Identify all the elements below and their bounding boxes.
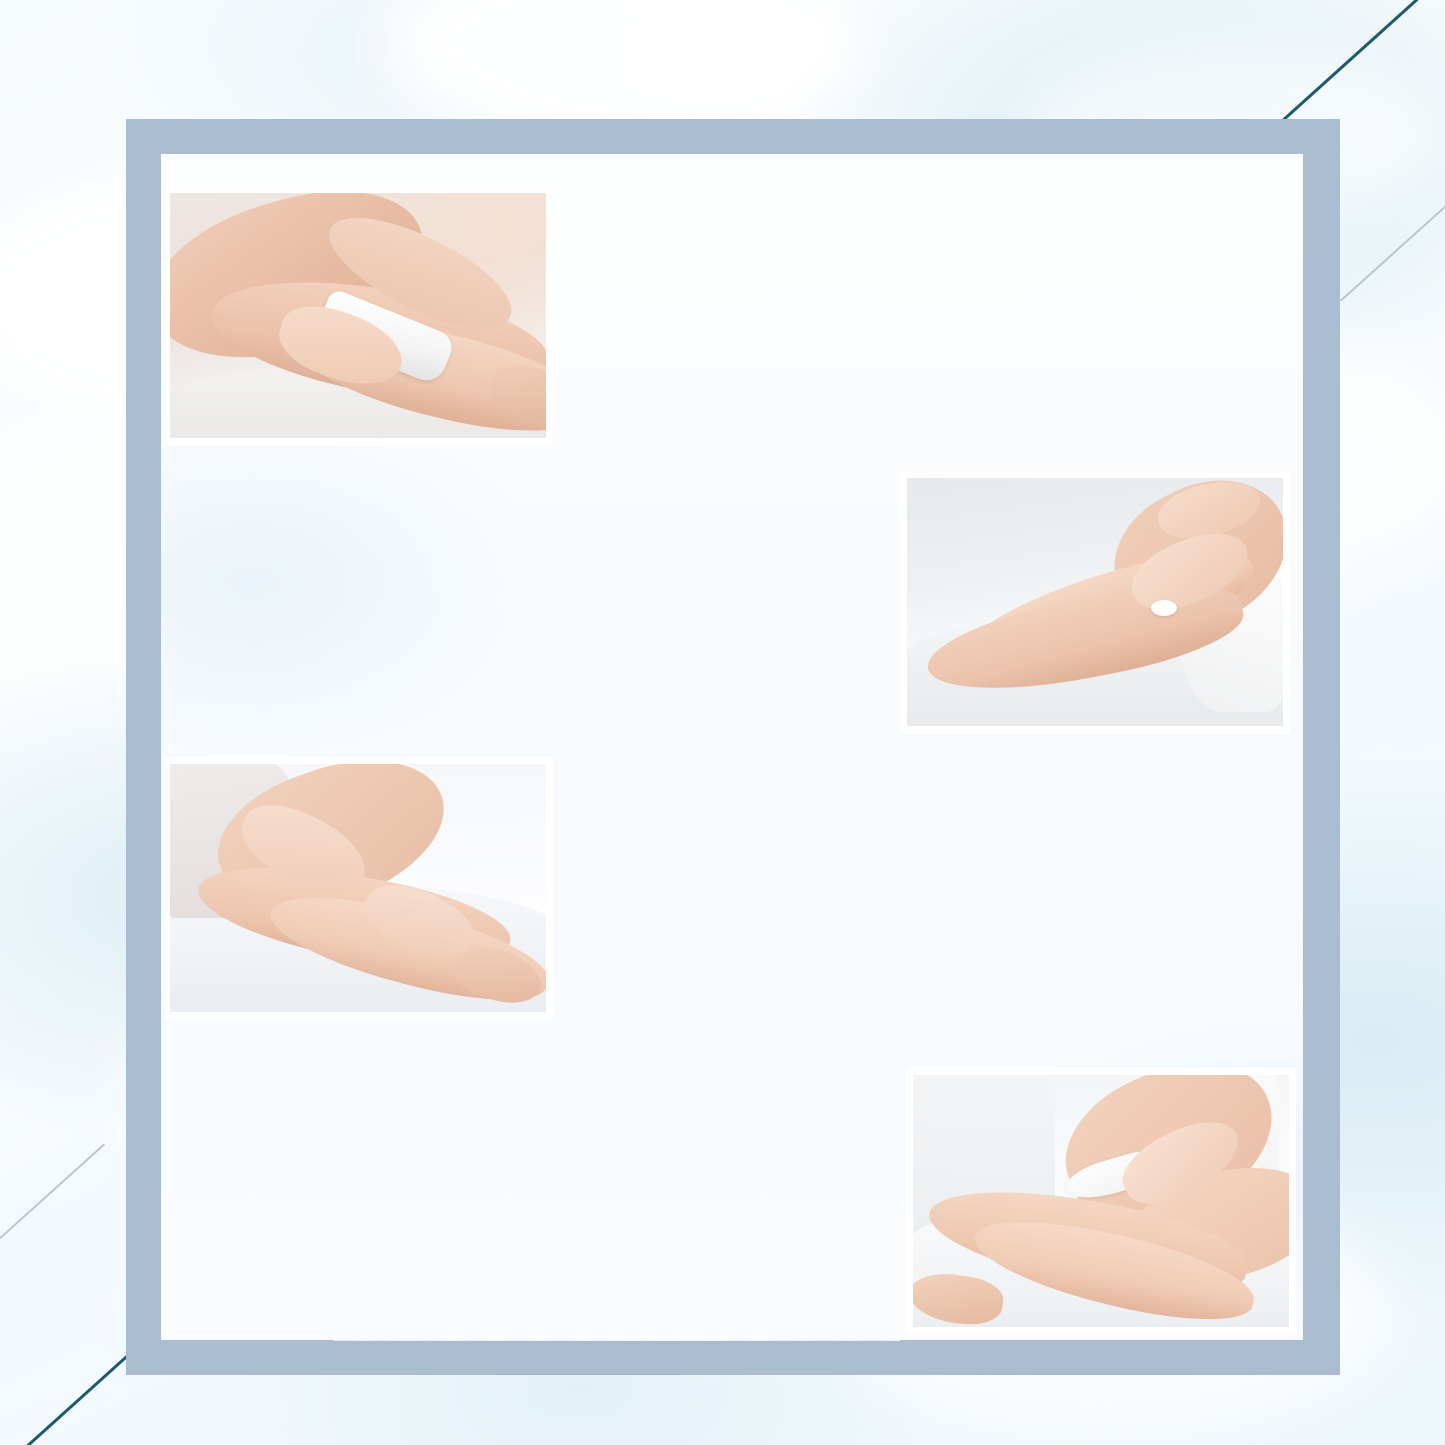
step1-photo: [163, 186, 553, 445]
step3-photo-image: [170, 764, 546, 1012]
step3-photo: [163, 757, 553, 1019]
step2-photo: [900, 471, 1290, 733]
cream-dab-shape: [1151, 600, 1177, 616]
step2-photo-image: [907, 478, 1283, 726]
step4-photo-image: [913, 1075, 1289, 1327]
step1-photo-image: [170, 193, 546, 438]
step4-photo: [906, 1068, 1296, 1334]
